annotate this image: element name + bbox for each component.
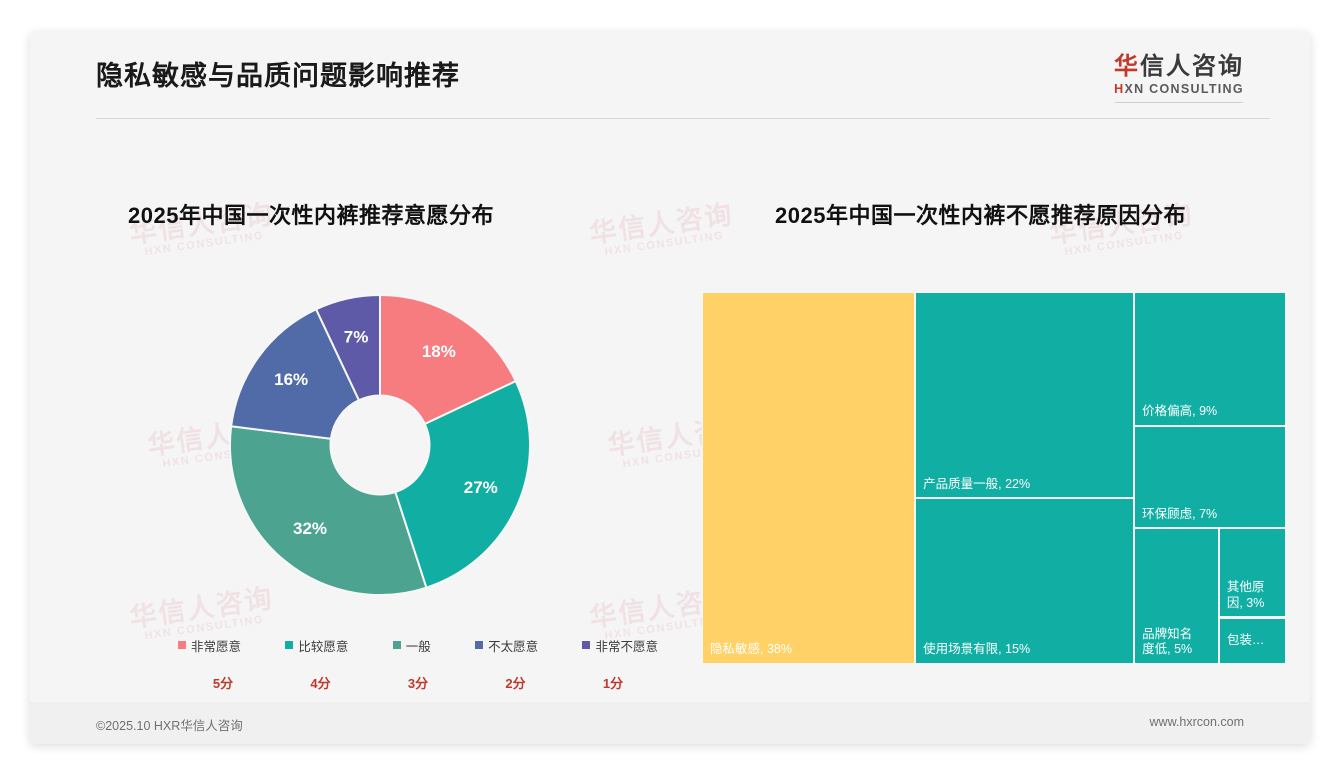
score-label-1: 4分	[276, 673, 366, 692]
legend-swatch-icon	[393, 641, 401, 649]
logo-english-accent: H	[1114, 82, 1124, 96]
donut-slice[interactable]	[230, 426, 426, 595]
logo-divider	[1115, 102, 1243, 103]
slide: 华信人咨询HXN CONSULTING华信人咨询HXN CONSULTING华信…	[30, 32, 1310, 744]
donut-slice-label: 32%	[293, 519, 327, 538]
legend-item-2[interactable]: 一般	[393, 636, 431, 655]
treemap-cell[interactable]: 环保顾虑, 7%	[1134, 426, 1286, 528]
legend-label: 比较愿意	[298, 636, 348, 655]
slide-header: 隐私敏感与品质问题影响推荐 华信人咨询 HXN CONSULTING	[30, 32, 1310, 120]
donut-chart: 18%27%32%16%7%	[205, 280, 555, 610]
legend-label: 一般	[406, 636, 431, 655]
legend-label: 非常愿意	[191, 636, 241, 655]
logo-english-rest: XN CONSULTING	[1124, 82, 1243, 96]
legend-item-3[interactable]: 不太愿意	[475, 636, 538, 655]
donut-slice-label: 27%	[464, 478, 498, 497]
donut-slice-label: 16%	[274, 370, 308, 389]
legend-item-4[interactable]: 非常不愿意	[582, 636, 658, 655]
treemap-cell-label: 其他原 因, 3%	[1227, 580, 1280, 611]
treemap-cell[interactable]: 其他原 因, 3%	[1219, 528, 1286, 617]
treemap-cell-label: 品牌知名 度低, 5%	[1142, 627, 1213, 658]
treemap-cell[interactable]: 隐私敏感, 38%	[702, 292, 915, 664]
legend-swatch-icon	[178, 641, 186, 649]
treemap-chart: 隐私敏感, 38%产品质量一般, 22%使用场景有限, 15%价格偏高, 9%环…	[702, 292, 1286, 664]
page-title: 隐私敏感与品质问题影响推荐	[96, 54, 460, 93]
treemap-cell[interactable]: 产品质量一般, 22%	[915, 292, 1134, 498]
legend-label: 不太愿意	[488, 636, 538, 655]
logo-chinese-accent: 华	[1114, 53, 1140, 80]
logo-chinese: 华信人咨询	[1114, 54, 1244, 80]
donut-score-row: 5分4分3分2分1分	[178, 672, 658, 692]
right-chart-title: 2025年中国一次性内裤不愿推荐原因分布	[775, 198, 1186, 230]
legend-swatch-icon	[582, 641, 590, 649]
treemap-cell-label: 使用场景有限, 15%	[923, 642, 1128, 658]
left-chart-title: 2025年中国一次性内裤推荐意愿分布	[128, 198, 494, 230]
treemap-cell-label: 价格偏高, 9%	[1142, 404, 1280, 420]
legend-item-1[interactable]: 比较愿意	[285, 636, 348, 655]
score-label-2: 3分	[373, 673, 463, 692]
footer-website[interactable]: www.hxrcon.com	[1150, 715, 1244, 729]
logo-english: HXN CONSULTING	[1114, 82, 1244, 96]
donut-legend: 非常愿意比较愿意一般不太愿意非常不愿意	[178, 634, 658, 656]
header-divider	[96, 118, 1270, 119]
watermark: 华信人咨询HXN CONSULTING	[588, 200, 737, 261]
treemap-cell-label: 包装…	[1227, 633, 1280, 649]
score-label-0: 5分	[178, 673, 268, 692]
score-label-4: 1分	[568, 673, 658, 692]
footer-bar: ©2025.10 HXR华信人咨询 www.hxrcon.com	[30, 702, 1310, 744]
treemap-cell[interactable]: 包装…	[1219, 618, 1286, 665]
treemap-cell[interactable]: 价格偏高, 9%	[1134, 292, 1286, 426]
legend-item-0[interactable]: 非常愿意	[178, 636, 241, 655]
treemap-cell-label: 环保顾虑, 7%	[1142, 507, 1280, 523]
legend-swatch-icon	[285, 641, 293, 649]
legend-label: 非常不愿意	[595, 636, 658, 655]
legend-swatch-icon	[475, 641, 483, 649]
donut-slice-label: 18%	[422, 342, 456, 361]
logo-chinese-rest: 信人咨询	[1140, 53, 1244, 80]
donut-slice-label: 7%	[344, 327, 369, 346]
treemap-cell[interactable]: 使用场景有限, 15%	[915, 498, 1134, 664]
brand-logo: 华信人咨询 HXN CONSULTING	[1114, 54, 1244, 103]
footer-copyright: ©2025.10 HXR华信人咨询	[96, 715, 243, 734]
treemap-cell-label: 隐私敏感, 38%	[710, 642, 909, 658]
donut-chart-svg: 18%27%32%16%7%	[205, 280, 555, 610]
score-label-3: 2分	[471, 673, 561, 692]
treemap-cell[interactable]: 品牌知名 度低, 5%	[1134, 528, 1219, 664]
treemap-cell-label: 产品质量一般, 22%	[923, 477, 1128, 493]
